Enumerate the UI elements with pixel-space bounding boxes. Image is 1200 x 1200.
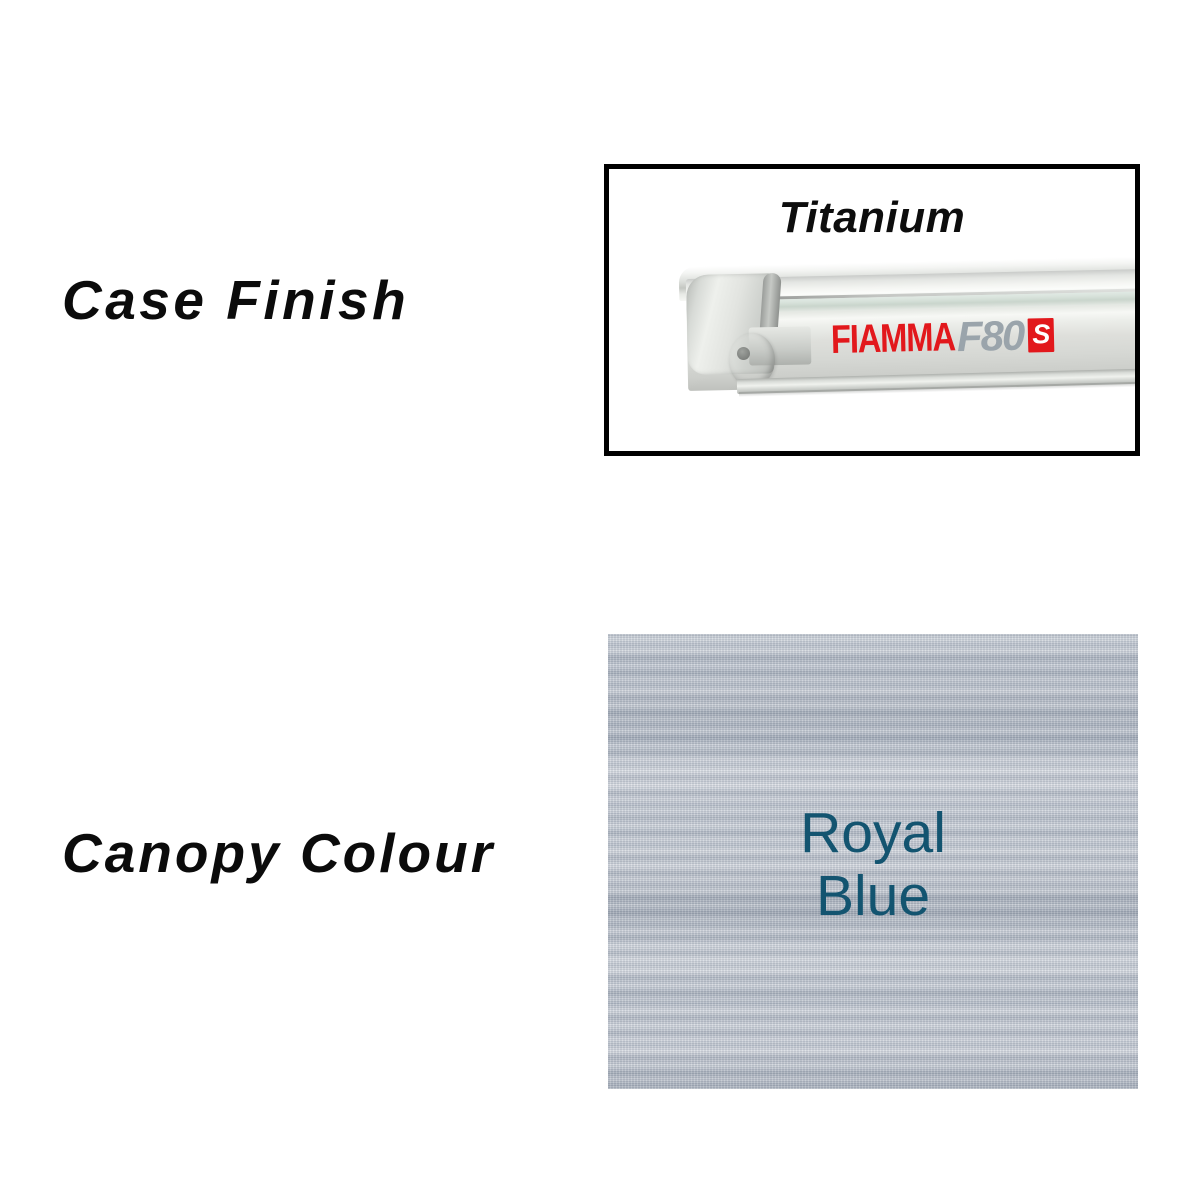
canopy-colour-value-line-2: Blue (608, 865, 1138, 928)
canopy-colour-value-line-1: Royal (608, 802, 1138, 865)
awning-roller-hub (737, 347, 750, 360)
case-finish-value-caption: Titanium (609, 196, 1135, 240)
canopy-colour-fabric-swatch: Royal Blue (608, 634, 1138, 1089)
awning-case-illustration: FIAMMA F80 S (609, 261, 1135, 451)
case-finish-image-frame: Titanium FIAMMA F80 S (604, 164, 1140, 456)
s-variant-badge: S (1028, 318, 1055, 353)
product-options-page: { "page": { "background": "#ffffff", "ti… (0, 0, 1200, 1200)
fiamma-f80s-logo: FIAMMA F80 S (831, 314, 1055, 361)
canopy-colour-value-caption: Royal Blue (608, 802, 1138, 927)
case-finish-label: Case Finish (62, 273, 409, 328)
case-finish-product-photo: Titanium FIAMMA F80 S (609, 169, 1135, 451)
fiamma-brand-text: FIAMMA (831, 317, 956, 360)
f80-model-text: F80 (956, 315, 1023, 358)
canopy-colour-label: Canopy Colour (62, 826, 495, 881)
